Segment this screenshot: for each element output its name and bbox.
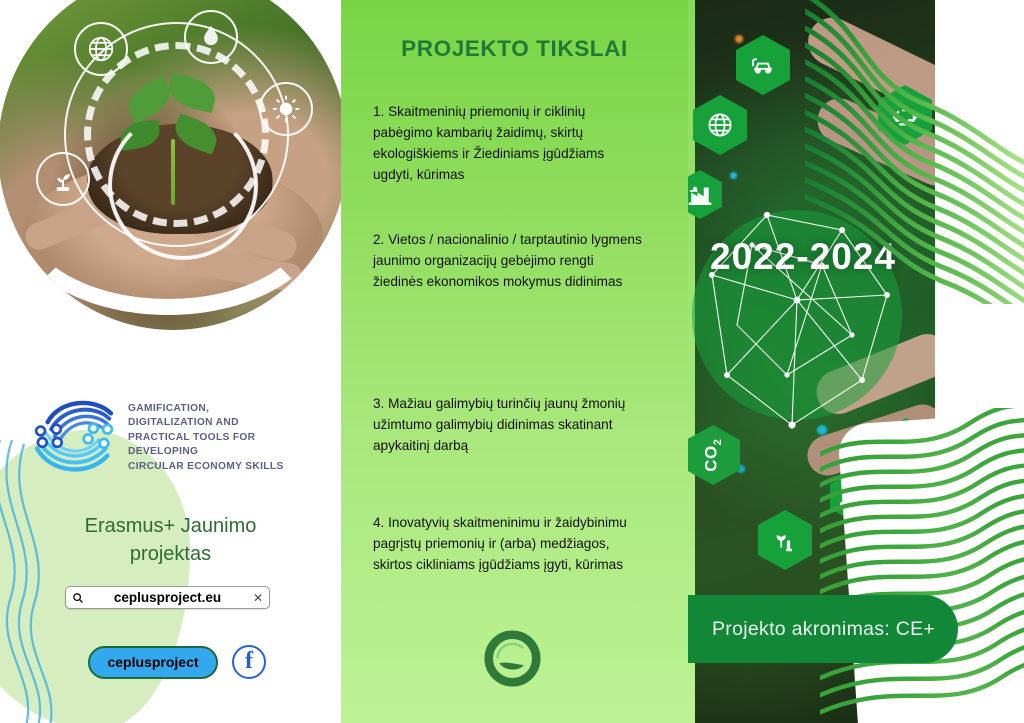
goal-item-1: 1. Skaitmeninių priemonių ir ciklinių pa… <box>373 101 645 185</box>
goals-panel: PROJEKTO TIKSLAI 1. Skaitmeninių priemon… <box>341 0 688 723</box>
social-row: ceplusproject f <box>88 645 266 679</box>
sun-icon <box>259 82 313 136</box>
acronym-banner: Projekto akronimas: CE+ <box>688 595 958 663</box>
goal-item-2: 2. Vietos / nacionalinio / tarptautinio … <box>373 229 645 292</box>
facebook-icon[interactable]: f <box>232 645 266 679</box>
ceplusproject-button[interactable]: ceplusproject <box>88 646 218 679</box>
website-url-bar[interactable]: ceplusproject.eu ✕ <box>65 586 270 609</box>
logo-line-1: GAMIFICATION, <box>128 402 284 416</box>
bokeh-dot <box>735 35 743 43</box>
close-icon[interactable]: ✕ <box>251 591 263 605</box>
goal-item-4: 4. Inovatyvių skaitmeninimu ir žaidybini… <box>373 512 645 575</box>
green-wavy-lines-top <box>805 0 1024 304</box>
facebook-glyph: f <box>245 649 253 673</box>
search-icon <box>72 592 84 604</box>
green-wavy-lines-bottom <box>820 408 1024 723</box>
left-panel: GAMIFICATION, DIGITALIZATION AND PRACTIC… <box>0 0 341 723</box>
water-drop-icon <box>184 10 238 64</box>
acronym-text: Projekto akronimas: CE+ <box>712 618 935 641</box>
brochure-page: GAMIFICATION, DIGITALIZATION AND PRACTIC… <box>0 0 1024 723</box>
page-title: PROJEKTO TIKSLAI <box>341 36 688 62</box>
gamification-circular-economy-logo-mark <box>30 392 118 484</box>
logo-line-3: PRACTICAL TOOLS FOR <box>128 431 284 445</box>
erasmus-tagline: Erasmus+ Jaunimo projektas <box>0 512 341 569</box>
circular-leaf-logo <box>484 630 541 687</box>
logo-text-block: GAMIFICATION, DIGITALIZATION AND PRACTIC… <box>128 402 284 474</box>
goal-item-3: 3. Mažiau galimybių turinčių jaunų žmoni… <box>373 393 645 456</box>
globe-icon <box>74 22 128 76</box>
logo-line-5: CIRCULAR ECONOMY SKILLS <box>128 460 284 474</box>
url-text: ceplusproject.eu <box>84 590 251 605</box>
logo-line-4: DEVELOPING <box>128 445 284 459</box>
co2-label: CO2 <box>702 438 724 471</box>
hud-big-arc <box>8 115 328 315</box>
plant-sprout-icon <box>36 152 90 206</box>
project-logo: GAMIFICATION, DIGITALIZATION AND PRACTIC… <box>30 392 320 484</box>
logo-line-2: DIGITALIZATION AND <box>128 416 284 430</box>
